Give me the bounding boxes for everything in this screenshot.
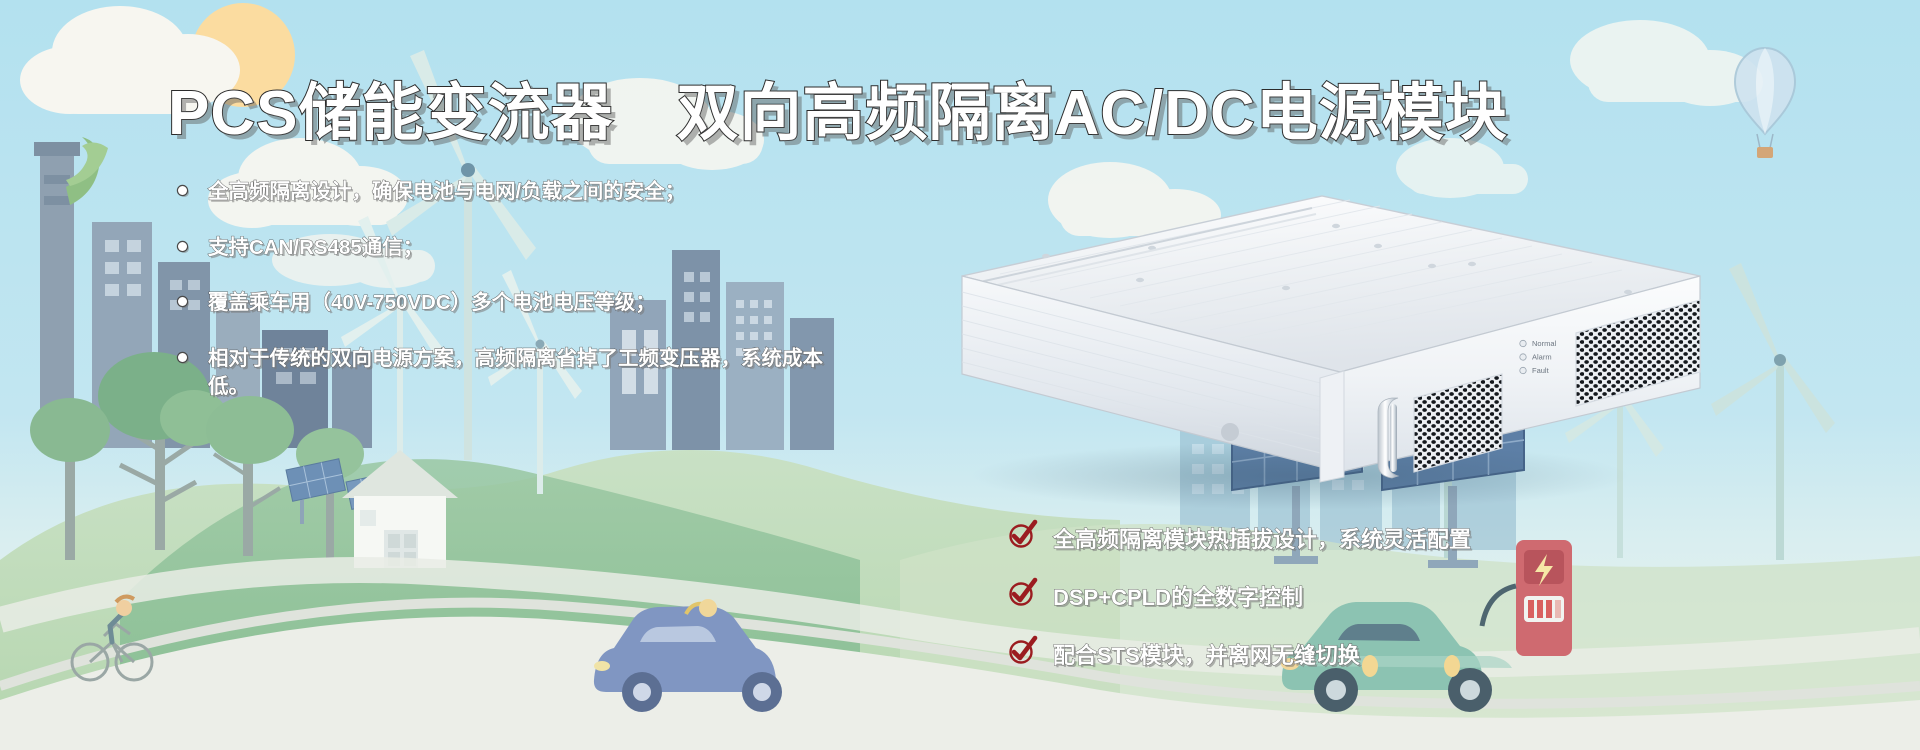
led-label-alarm: Alarm	[1532, 353, 1552, 362]
feature-text: 相对于传统的双向电源方案，高频隔离省掉了工频变压器，系统成本低。	[208, 347, 823, 398]
led-label-fault: Fault	[1532, 366, 1550, 375]
list-item: 配合STS模块，并离网无缝切换	[1008, 638, 1568, 670]
page-title: PCS储能变流器 双向高频隔离AC/DC电源模块	[168, 62, 1508, 152]
feature-list: 全高频隔离设计，确保电池与电网/负载之间的安全； 支持CAN/RS485通信； …	[172, 178, 852, 428]
highlight-list: 全高频隔离模块热插拔设计，系统灵活配置 DSP+CPLD的全数字控制 配合STS…	[1008, 522, 1568, 696]
feature-text: 支持CAN/RS485通信；	[208, 236, 423, 259]
list-item: 支持CAN/RS485通信；	[172, 234, 852, 262]
highlight-text: DSP+CPLD的全数字控制	[1053, 585, 1303, 610]
check-icon	[1008, 519, 1038, 549]
list-item: 全高频隔离模块热插拔设计，系统灵活配置	[1008, 522, 1568, 554]
list-item: 覆盖乘车用（40V-750VDC）多个电池电压等级；	[172, 289, 852, 317]
bullet-dot-icon	[178, 242, 187, 251]
highlight-text: 配合STS模块，并离网无缝切换	[1053, 643, 1360, 668]
device-handle	[1378, 398, 1398, 478]
check-icon	[1008, 635, 1038, 665]
list-item: DSP+CPLD的全数字控制	[1008, 580, 1568, 612]
product-banner: Normal Alarm Fault PCS储能变流器 双向高频隔离AC/DC电…	[0, 0, 1920, 750]
list-item: 全高频隔离设计，确保电池与电网/负载之间的安全；	[172, 178, 852, 206]
list-item: 相对于传统的双向电源方案，高频隔离省掉了工频变压器，系统成本低。	[172, 345, 852, 400]
check-icon	[1008, 577, 1038, 607]
bullet-dot-icon	[178, 353, 187, 362]
bullet-dot-icon	[178, 186, 187, 195]
bullet-dot-icon	[178, 297, 187, 306]
led-label-normal: Normal	[1532, 339, 1557, 348]
feature-text: 覆盖乘车用（40V-750VDC）多个电池电压等级；	[208, 291, 656, 314]
highlight-text: 全高频隔离模块热插拔设计，系统灵活配置	[1053, 527, 1471, 552]
feature-text: 全高频隔离设计，确保电池与电网/负载之间的安全；	[208, 180, 685, 203]
